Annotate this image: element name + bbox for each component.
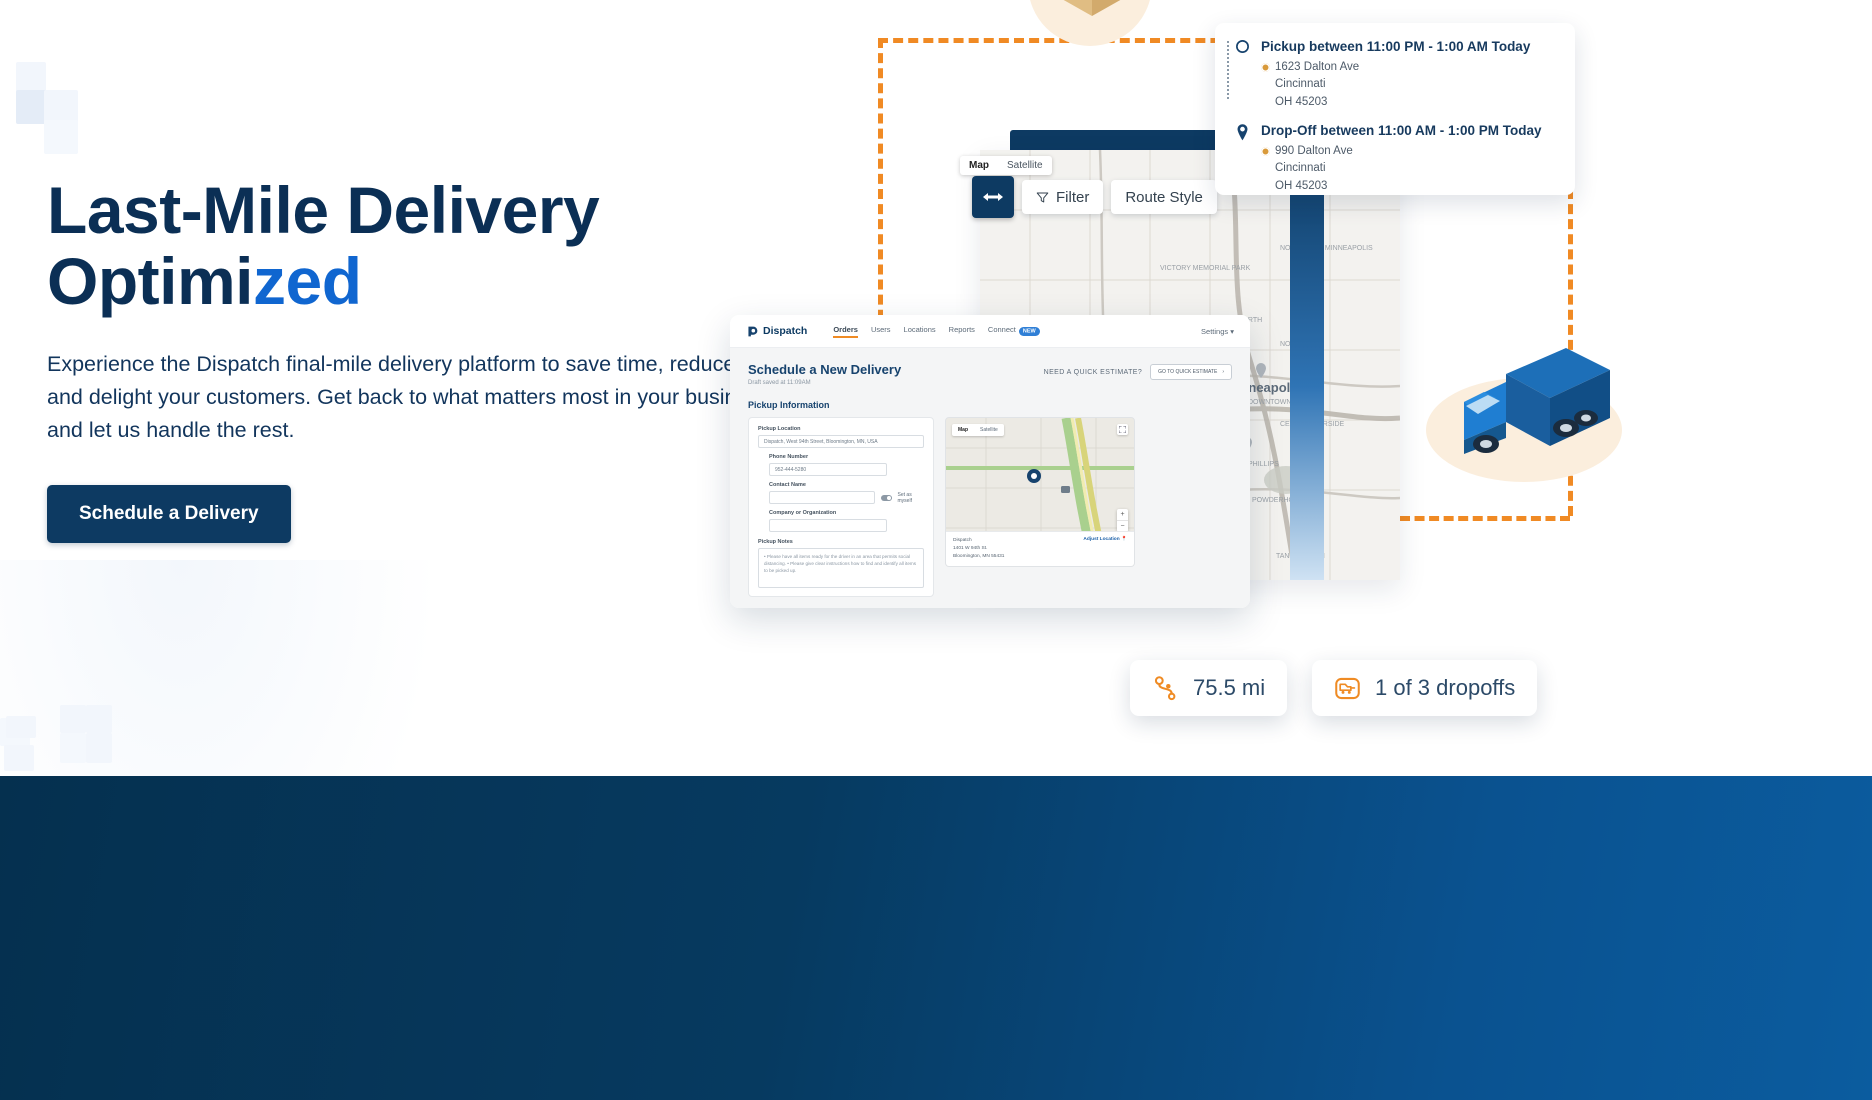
location-pin-icon: 📍 — [1121, 537, 1127, 542]
distance-pill: 75.5 mi — [1130, 660, 1287, 716]
filter-button[interactable]: Filter — [1022, 180, 1103, 214]
mini-map-segment-map[interactable]: Map — [952, 424, 974, 436]
route-style-button-label: Route Style — [1125, 189, 1203, 206]
funnel-icon — [1036, 191, 1049, 204]
pickup-information-columns: Pickup Location Dispatch, West 94th Stre… — [748, 417, 1232, 597]
company-label: Company or Organization — [769, 510, 924, 516]
mini-map-address-line1: 1401 W 94th St. — [953, 545, 1004, 553]
route-icon — [1152, 675, 1179, 702]
circle-outline-icon — [1235, 39, 1250, 59]
mini-map-footer: Dispatch 1401 W 94th St. Bloomington, MN… — [946, 531, 1134, 566]
contact-name-row: Set as myself — [769, 491, 924, 504]
headline-line-2-dark: Optimi — [47, 244, 253, 318]
stops-connector-line — [1227, 41, 1229, 99]
nav-item-reports[interactable]: Reports — [949, 325, 975, 337]
nav-item-orders[interactable]: Orders — [833, 325, 858, 337]
map-basemap-segment[interactable]: Map Satellite — [960, 156, 1052, 175]
contact-name-input[interactable] — [769, 491, 875, 504]
mini-map-segment-satellite[interactable]: Satellite — [974, 424, 1004, 436]
stats-band: 53k+ Businesses Served 75M+ Customer Mil… — [0, 776, 1872, 1100]
left-right-arrows-icon[interactable] — [972, 176, 1014, 218]
nav-item-users[interactable]: Users — [871, 325, 891, 337]
adjust-location-label: Adjust Location — [1083, 537, 1119, 542]
dropoffs-pill-label: 1 of 3 dropoffs — [1375, 675, 1515, 701]
hero-subcopy: Experience the Dispatch final-mile deliv… — [47, 348, 807, 448]
stop-dropoff: Drop-Off between 11:00 AM - 1:00 PM Toda… — [1231, 123, 1557, 195]
hero-illustration: VICTORY MEMORIAL PARK NORTHEAST MINNEAPO… — [860, 0, 1872, 776]
adjust-location-link[interactable]: Adjust Location 📍 — [1083, 537, 1127, 542]
chevron-down-icon: ▾ — [1230, 327, 1234, 336]
hero-copy: Last-Mile Delivery Optimized Experience … — [47, 175, 847, 543]
mini-map-zoom-controls[interactable]: + − — [1117, 509, 1128, 532]
schedule-a-delivery-button[interactable]: Schedule a Delivery — [47, 485, 291, 543]
route-style-button[interactable]: Route Style — [1111, 180, 1217, 214]
mini-map-basemap-segment[interactable]: Map Satellite — [952, 424, 1004, 436]
mini-map-address-line2: Bloomington, MN 55431 — [953, 553, 1004, 561]
expand-map-icon[interactable] — [1117, 424, 1128, 435]
pickup-form-panel: Pickup Location Dispatch, West 94th Stre… — [748, 417, 934, 597]
phone-number-label: Phone Number — [769, 454, 924, 460]
nav-item-connect[interactable]: ConnectNEW — [988, 325, 1040, 337]
pickup-location-label: Pickup Location — [758, 426, 924, 432]
chevron-right-icon: › — [1222, 369, 1224, 375]
decor-square-4 — [44, 120, 78, 154]
map-card-edge-gradient — [1290, 150, 1324, 580]
settings-menu-label: Settings — [1201, 327, 1228, 336]
headline-line-2-accent: zed — [253, 244, 362, 318]
settings-menu[interactable]: Settings ▾ — [1201, 327, 1234, 336]
decor-square-9 — [86, 705, 112, 733]
quick-estimate-area: NEED A QUICK ESTIMATE? GO TO QUICK ESTIM… — [1044, 364, 1232, 380]
zoom-in-button[interactable]: + — [1117, 509, 1128, 520]
dashboard-draft-note: Draft saved at 11:09AM — [748, 380, 1232, 386]
dispatch-logo-text: Dispatch — [763, 325, 807, 337]
zoom-out-button[interactable]: − — [1117, 520, 1128, 532]
set-as-myself-toggle[interactable] — [881, 495, 892, 501]
stop-dropoff-title: Drop-Off between 11:00 AM - 1:00 PM Toda… — [1261, 123, 1557, 139]
decor-square-7 — [4, 745, 34, 771]
stop-dropoff-address: 990 Dalton Ave — [1275, 143, 1353, 160]
dropoffs-pill: 1 of 3 dropoffs — [1312, 660, 1537, 716]
delivery-truck-icon — [1444, 340, 1610, 476]
delivery-stops-card: Pickup between 11:00 PM - 1:00 AM Today … — [1215, 23, 1575, 195]
hero-section: Last-Mile Delivery Optimized Experience … — [0, 0, 1872, 776]
pickup-location-input[interactable]: Dispatch, West 94th Street, Bloomington,… — [758, 435, 924, 448]
nav-item-connect-label: Connect — [988, 325, 1016, 334]
dashboard-body: Schedule a New Delivery Draft saved at 1… — [730, 348, 1250, 608]
pickup-notes-textarea[interactable]: • Please have all items ready for the dr… — [758, 548, 924, 588]
decor-square-3 — [44, 90, 78, 124]
address-dot-icon — [1261, 147, 1270, 156]
mini-map-address-block: Dispatch 1401 W 94th St. Bloomington, MN… — [953, 537, 1004, 561]
nav-connect-badge: NEW — [1019, 327, 1040, 336]
address-dot-icon — [1261, 63, 1270, 72]
package-box-icon — [1038, 0, 1146, 22]
stop-pickup: Pickup between 11:00 PM - 1:00 AM Today … — [1231, 39, 1557, 111]
decor-square-6 — [6, 716, 36, 738]
stop-dropoff-region: OH 45203 — [1261, 178, 1557, 195]
dispatch-logo-icon — [746, 325, 759, 338]
dashboard-nav-links: Orders Users Locations Reports ConnectNE… — [833, 325, 1039, 337]
headline-line-1: Last-Mile Delivery — [47, 173, 599, 247]
decor-square-11 — [86, 733, 112, 763]
page-title: Last-Mile Delivery Optimized — [47, 175, 847, 318]
pickup-information-heading: Pickup Information — [748, 400, 1232, 410]
mini-map-location-name: Dispatch — [953, 537, 1004, 545]
stop-pickup-title: Pickup between 11:00 PM - 1:00 AM Today — [1261, 39, 1557, 55]
route-dash-bottom — [1400, 516, 1570, 521]
go-to-quick-estimate-button[interactable]: GO TO QUICK ESTIMATE › — [1150, 364, 1232, 380]
map-segment-satellite[interactable]: Satellite — [998, 156, 1052, 175]
decor-square-1 — [16, 62, 46, 92]
dashboard-screenshot-card[interactable]: Dispatch Orders Users Locations Reports … — [730, 315, 1250, 608]
pickup-contact-group: Phone Number 952-444-5280 Contact Name S… — [758, 454, 924, 532]
svg-text:VICTORY MEMORIAL PARK: VICTORY MEMORIAL PARK — [1160, 265, 1251, 272]
stop-pickup-city: Cincinnati — [1261, 76, 1557, 93]
pickup-notes-label: Pickup Notes — [758, 539, 924, 545]
dashboard-navbar: Dispatch Orders Users Locations Reports … — [730, 315, 1250, 348]
stop-dropoff-city: Cincinnati — [1261, 160, 1557, 177]
quick-estimate-prompt: NEED A QUICK ESTIMATE? — [1044, 369, 1143, 376]
delivery-van-icon — [1334, 675, 1361, 702]
stop-pickup-address: 1623 Dalton Ave — [1275, 59, 1359, 76]
pickup-mini-map[interactable]: Map Satellite + − — [945, 417, 1135, 567]
map-pin-icon — [1235, 123, 1250, 147]
decor-square-8 — [60, 705, 86, 733]
nav-item-locations[interactable]: Locations — [904, 325, 936, 337]
distance-pill-label: 75.5 mi — [1193, 675, 1265, 701]
map-controls: Filter Route Style — [972, 176, 1217, 218]
company-input[interactable] — [769, 519, 887, 532]
go-to-quick-estimate-label: GO TO QUICK ESTIMATE — [1158, 369, 1217, 375]
set-as-myself-label: Set as myself — [898, 492, 924, 504]
landing-page: Last-Mile Delivery Optimized Experience … — [0, 0, 1872, 1100]
stop-pickup-region: OH 45203 — [1261, 94, 1557, 111]
decor-square-10 — [60, 733, 86, 763]
phone-number-input[interactable]: 952-444-5280 — [769, 463, 887, 476]
filter-button-label: Filter — [1056, 189, 1089, 206]
map-segment-map[interactable]: Map — [960, 156, 998, 175]
contact-name-label: Contact Name — [769, 482, 924, 488]
svg-text:PHILLIPS: PHILLIPS — [1248, 461, 1279, 468]
dispatch-logo[interactable]: Dispatch — [746, 325, 807, 338]
